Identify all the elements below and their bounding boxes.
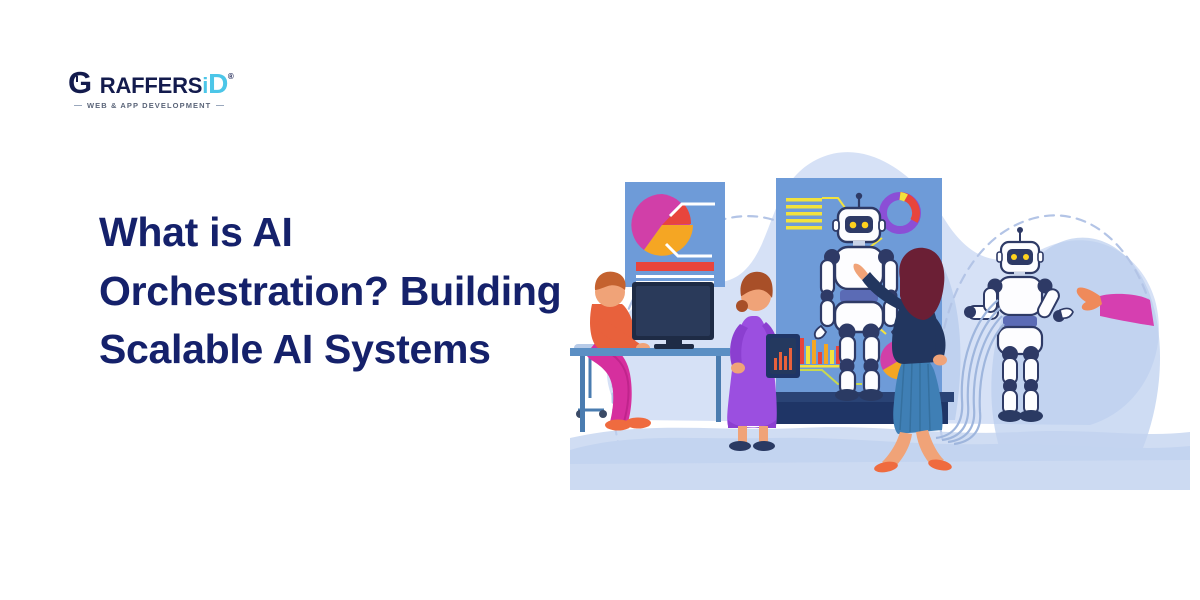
logo-g-tick [76, 76, 78, 82]
hair-bun [736, 300, 748, 312]
illustration-svg [570, 120, 1190, 490]
tablet [766, 334, 800, 378]
logo-wordmark: G RAFFERSiD® [68, 68, 238, 98]
robot2-eye-left [1011, 254, 1017, 260]
floor [570, 427, 1190, 490]
company-logo[interactable]: G RAFFERSiD® WEB & APP DEVELOPMENT [68, 68, 238, 110]
monitor [632, 282, 714, 349]
hero-banner: G RAFFERSiD® WEB & APP DEVELOPMENT What … [0, 0, 1200, 600]
robot-eye-left [850, 222, 857, 229]
robot-eye-right [862, 222, 869, 229]
left-chart-panel [625, 182, 725, 287]
robot2-eye-right [1023, 254, 1029, 260]
logo-text-accent-d: D [208, 68, 228, 99]
tagline-dash-left [74, 105, 82, 106]
hero-illustration [570, 120, 1190, 490]
tagline-dash-right [216, 105, 224, 106]
left-panel-bar-red [636, 262, 714, 271]
tagline-text: WEB & APP DEVELOPMENT [87, 101, 211, 110]
page-title: What is AI Orchestration? Building Scala… [99, 203, 579, 378]
logo-letter-g: G [68, 65, 100, 100]
logo-tagline: WEB & APP DEVELOPMENT [68, 101, 238, 110]
logo-text-primary: RAFFERS [100, 73, 203, 98]
registered-trademark-icon: ® [228, 72, 234, 81]
left-panel-bar-white-1 [636, 275, 714, 278]
